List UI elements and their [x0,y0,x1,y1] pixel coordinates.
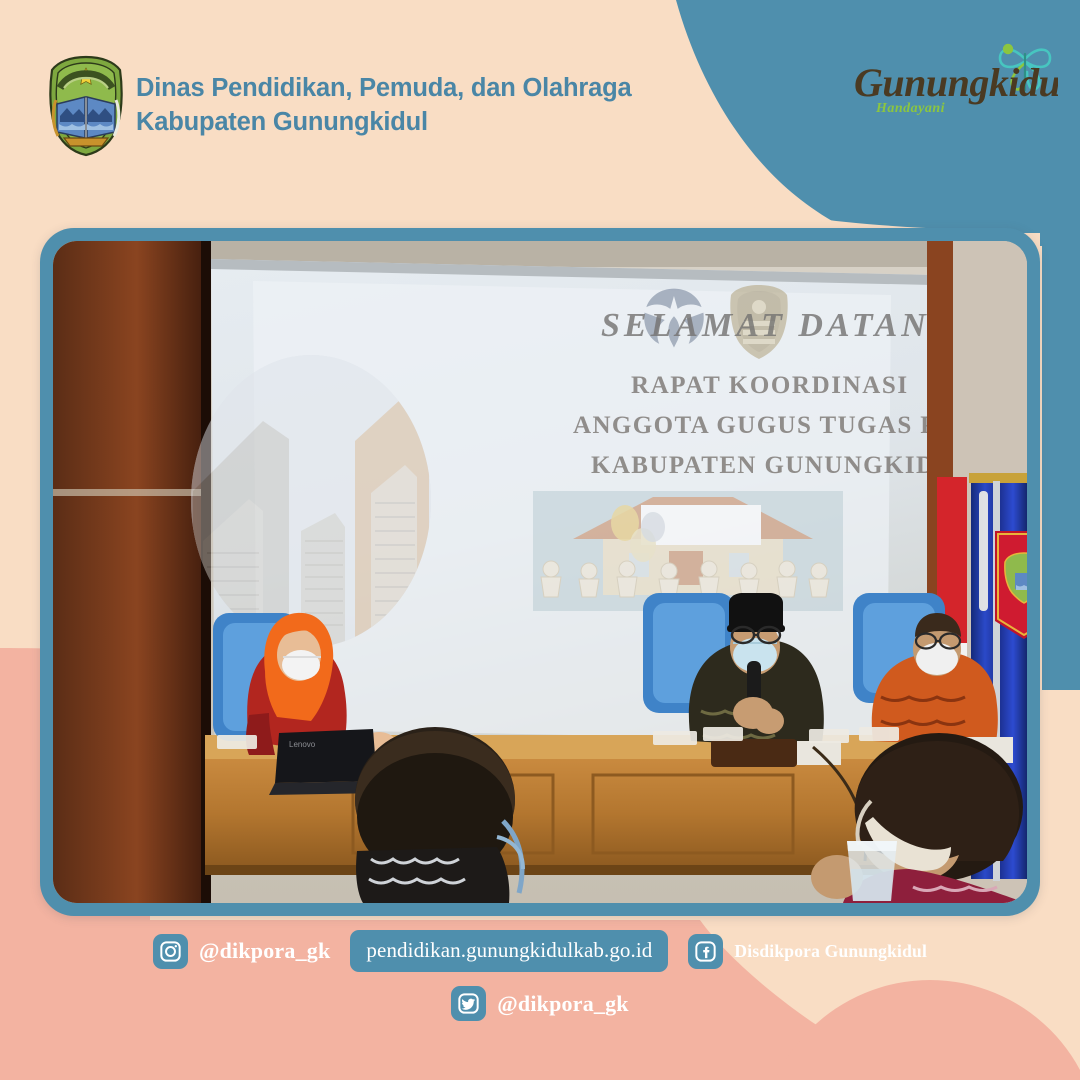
brand-tagline: Handayani [875,101,945,116]
facebook-page-name: Disdikpora Gunungkidul [734,941,927,962]
brand-wordmark: Gunungkidul [854,60,1058,105]
facebook-link[interactable]: Disdikpora Gunungkidul [688,934,927,969]
gunungkidul-handayani-brandmark: Gunungkidul Handayani [848,40,1058,126]
wood-wall-panel [53,241,205,903]
twitter-link[interactable]: @dikpora_gk [451,986,628,1021]
photo-card-frame: SELAMAT DATANG RAPAT KOORDINASI ANGGOTA … [40,228,1040,916]
twitter-icon[interactable] [451,986,486,1021]
slide-line-3: KABUPATEN GUNUNGKIDUL [591,452,973,479]
instagram-link[interactable]: @dikpora_gk [153,934,330,969]
twitter-handle: @dikpora_gk [497,991,628,1017]
gunungkidul-regency-crest-icon [44,54,128,158]
city-skyscrapers-circle-photo [191,355,431,647]
website-url-button[interactable]: pendidikan.gunungkidulkab.go.id [350,930,668,972]
regency-pennant-banner [995,531,1027,639]
header: Dinas Pendidikan, Pemuda, dan Olahraga K… [0,0,1080,200]
instagram-icon[interactable] [153,934,188,969]
page-title: Dinas Pendidikan, Pemuda, dan Olahraga K… [136,72,631,139]
laptop-brand: Lenovo [289,740,316,749]
facebook-icon[interactable] [688,934,723,969]
meeting-photo: SELAMAT DATANG RAPAT KOORDINASI ANGGOTA … [53,241,1027,903]
slide-heading: SELAMAT DATANG [601,307,958,344]
name-plate [711,739,797,767]
instagram-handle: @dikpora_gk [199,938,330,964]
footer-social-bar: @dikpora_gk pendidikan.gunungkidulkab.go… [0,916,1080,1080]
slide-line-1: RAPAT KOORDINASI [631,372,909,399]
